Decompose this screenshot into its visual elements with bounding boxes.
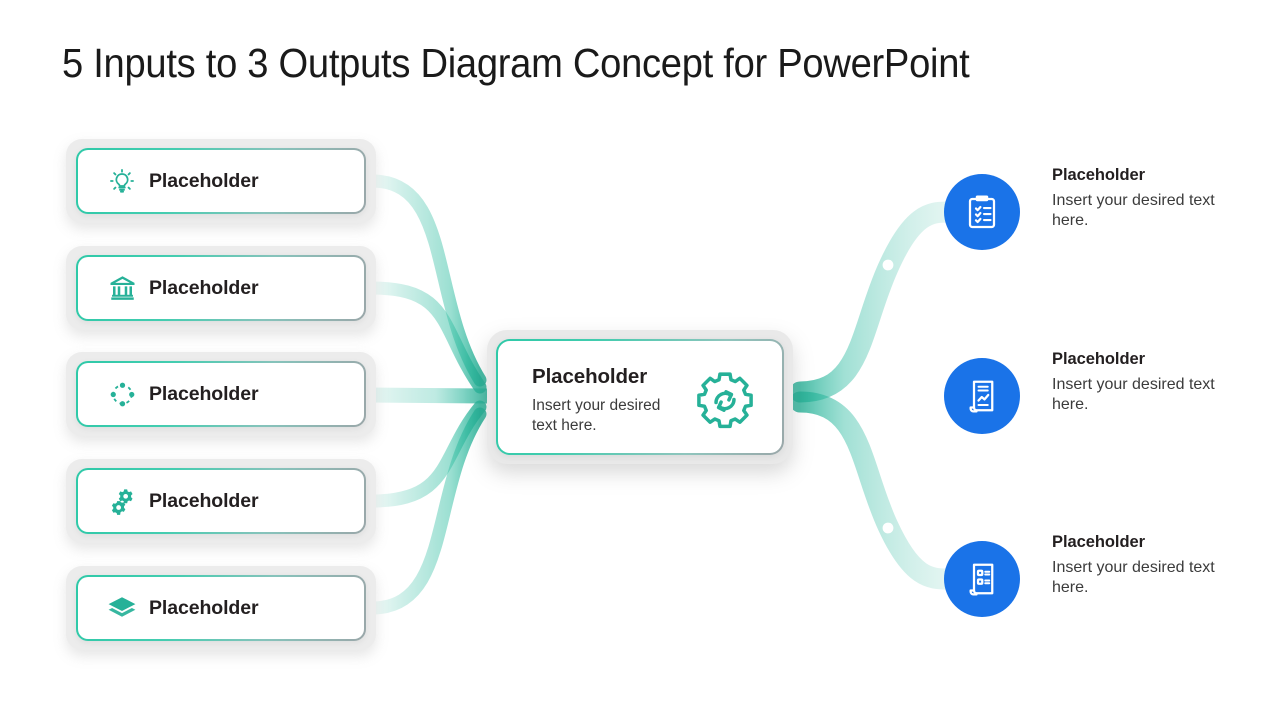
input-card-5[interactable]: Placeholder <box>66 566 376 650</box>
input-card-2-inner: Placeholder <box>76 255 366 321</box>
output-1-title: Placeholder <box>1052 166 1242 185</box>
output-2-circle <box>944 358 1020 434</box>
output-2-body: Insert your desired text here. <box>1052 375 1242 416</box>
hub-title: Placeholder <box>532 365 682 389</box>
output-1-circle <box>944 174 1020 250</box>
output-2-text-block: Placeholder Insert your desired text her… <box>1052 350 1242 416</box>
slide-canvas: 5 Inputs to 3 Outputs Diagram Concept fo… <box>0 0 1280 720</box>
output-1-body: Insert your desired text here. <box>1052 191 1242 232</box>
ribbon-dot-output-2 <box>883 391 894 402</box>
input-card-5-label: Placeholder <box>149 597 258 620</box>
output-node-3[interactable]: Placeholder Insert your desired text her… <box>944 533 1244 625</box>
hub-card[interactable]: Placeholder Insert your desired text her… <box>487 330 793 464</box>
output-1-text-block: Placeholder Insert your desired text her… <box>1052 166 1242 232</box>
clipboard-checklist-icon <box>962 192 1002 232</box>
page-title: 5 Inputs to 3 Outputs Diagram Concept fo… <box>62 40 969 87</box>
network-nodes-icon <box>99 380 145 409</box>
input-card-4-label: Placeholder <box>149 490 258 513</box>
ribbon-input-5 <box>372 414 480 608</box>
ribbon-dot-output-1 <box>883 260 894 271</box>
lightbulb-icon <box>99 166 145 196</box>
document-list-icon <box>962 559 1002 599</box>
ribbon-dot-output-3 <box>883 523 894 534</box>
bank-building-icon <box>99 273 145 304</box>
ribbon-output-3 <box>800 402 948 579</box>
ribbon-input-4 <box>372 407 480 501</box>
gear-refresh-icon <box>692 368 758 439</box>
output-3-title: Placeholder <box>1052 533 1242 552</box>
input-card-5-inner: Placeholder <box>76 575 366 641</box>
input-card-4-inner: Placeholder <box>76 468 366 534</box>
input-card-1[interactable]: Placeholder <box>66 139 376 223</box>
input-card-1-inner: Placeholder <box>76 148 366 214</box>
output-2-title: Placeholder <box>1052 350 1242 369</box>
hub-text-block: Placeholder Insert your desired text her… <box>532 365 682 435</box>
input-card-3[interactable]: Placeholder <box>66 352 376 436</box>
ribbon-input-2 <box>372 288 480 387</box>
ribbon-input-1 <box>372 181 480 380</box>
input-card-1-label: Placeholder <box>149 170 258 193</box>
input-card-3-label: Placeholder <box>149 383 258 406</box>
hub-body: Insert your desired text here. <box>532 396 682 435</box>
input-card-2-label: Placeholder <box>149 277 258 300</box>
output-3-circle <box>944 541 1020 617</box>
hub-card-inner: Placeholder Insert your desired text her… <box>496 339 784 455</box>
ribbon-input-3 <box>372 395 487 396</box>
ribbon-output-1 <box>800 212 948 392</box>
output-node-2[interactable]: Placeholder Insert your desired text her… <box>944 350 1244 442</box>
input-card-2[interactable]: Placeholder <box>66 246 376 330</box>
output-3-text-block: Placeholder Insert your desired text her… <box>1052 533 1242 599</box>
input-card-3-inner: Placeholder <box>76 361 366 427</box>
output-node-1[interactable]: Placeholder Insert your desired text her… <box>944 166 1244 258</box>
report-chart-icon <box>962 376 1002 416</box>
input-card-4[interactable]: Placeholder <box>66 459 376 543</box>
output-3-body: Insert your desired text here. <box>1052 558 1242 599</box>
layers-icon <box>99 592 145 624</box>
gears-icon <box>99 486 145 516</box>
